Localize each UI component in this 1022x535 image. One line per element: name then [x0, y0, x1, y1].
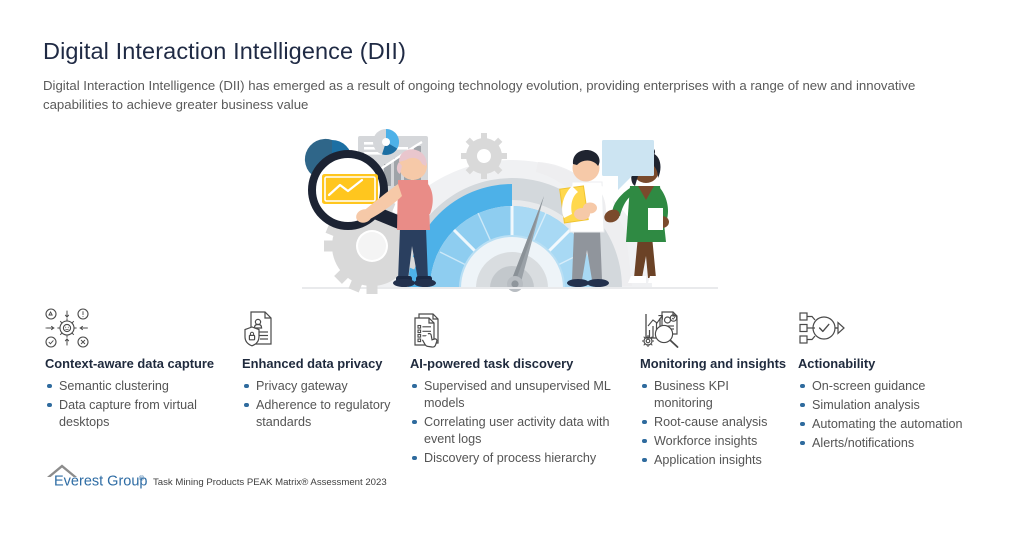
data-privacy-icon: [242, 308, 404, 348]
column-bullet-list: On-screen guidance Simulation analysis A…: [798, 378, 963, 452]
hero-illustration: [300, 118, 720, 310]
actionability-icon: [798, 308, 963, 348]
column-heading: Context-aware data capture: [45, 356, 225, 373]
list-item: Supervised and unsupervised ML models: [410, 378, 622, 412]
list-item: Adherence to regulatory standards: [242, 397, 404, 431]
svg-text:Everest Group: Everest Group: [54, 474, 148, 490]
capability-column-monitoring-and-insights: Monitoring and insights Business KPI mon…: [640, 308, 790, 471]
context-capture-icon: [45, 308, 225, 348]
capability-column-context-aware-data-capture: Context-aware data capture Semantic clus…: [45, 308, 225, 433]
capability-column-enhanced-data-privacy: Enhanced data privacy Privacy gateway Ad…: [242, 308, 404, 433]
column-heading: Enhanced data privacy: [242, 356, 404, 373]
task-discovery-icon: [410, 308, 622, 348]
capability-column-actionability: Actionability On-screen guidance Simulat…: [798, 308, 963, 454]
column-bullet-list: Privacy gateway Adherence to regulatory …: [242, 378, 404, 431]
column-heading: Monitoring and insights: [640, 356, 790, 373]
column-bullet-list: Business KPI monitoring Root-cause analy…: [640, 378, 790, 469]
list-item: Semantic clustering: [45, 378, 225, 395]
list-item: Workforce insights: [640, 433, 790, 450]
list-item: On-screen guidance: [798, 378, 963, 395]
list-item: Simulation analysis: [798, 397, 963, 414]
list-item: Privacy gateway: [242, 378, 404, 395]
list-item: Automating the automation: [798, 416, 963, 433]
page-title: Digital Interaction Intelligence (DII): [43, 39, 406, 65]
svg-text:®: ®: [139, 475, 145, 483]
capability-columns: Context-aware data capture Semantic clus…: [0, 308, 1022, 488]
page-subtitle: Digital Interaction Intelligence (DII) h…: [43, 76, 973, 114]
monitoring-insights-icon: [640, 308, 790, 348]
list-item: Correlating user activity data with even…: [410, 414, 622, 448]
everest-group-logo: Everest Group ®: [46, 463, 150, 490]
column-heading: Actionability: [798, 356, 963, 373]
footer-caption: Task Mining Products PEAK Matrix® Assess…: [153, 477, 387, 490]
list-item: Discovery of process hierarchy: [410, 450, 622, 467]
list-item: Root-cause analysis: [640, 414, 790, 431]
list-item: Business KPI monitoring: [640, 378, 790, 412]
column-bullet-list: Supervised and unsupervised ML models Co…: [410, 378, 622, 467]
capability-column-ai-powered-task-discovery: AI-powered task discovery Supervised and…: [410, 308, 622, 469]
list-item: Application insights: [640, 452, 790, 469]
column-bullet-list: Semantic clustering Data capture from vi…: [45, 378, 225, 431]
column-heading: AI-powered task discovery: [410, 356, 622, 373]
footer: Everest Group ® Task Mining Products PEA…: [46, 463, 387, 490]
list-item: Data capture from virtual desktops: [45, 397, 225, 431]
list-item: Alerts/notifications: [798, 435, 963, 452]
